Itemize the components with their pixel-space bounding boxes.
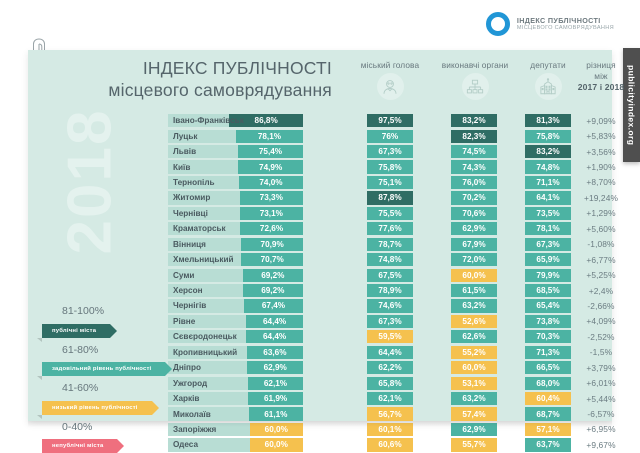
infographic-root: Індекс публічності місцевого самоврядува… xyxy=(0,0,640,453)
legend-item: 61-80%задовільний рівень публічності xyxy=(28,344,188,377)
city-name: Хмельницький xyxy=(173,253,234,266)
difference-value: +6,01% xyxy=(568,378,634,388)
legend-item: 81-100%публічні міста xyxy=(28,305,188,338)
legend-item: 0-40%непублічні міста xyxy=(28,421,188,453)
city-total-cell: 86,8%Івано-Франківськ xyxy=(168,114,303,127)
city-total-bar: 62,1% xyxy=(248,377,303,390)
legend-range: 41-60% xyxy=(28,382,188,394)
city-name: Сєвєродонецьк xyxy=(173,330,237,343)
exec-score: 72,0% xyxy=(451,253,497,266)
city-total-value: 64,4% xyxy=(258,317,291,326)
legend-tag: непублічні міста xyxy=(42,439,117,453)
city-total-value: 73,3% xyxy=(255,193,288,202)
difference-value: +6,77% xyxy=(568,255,634,265)
exec-score: 60,0% xyxy=(451,269,497,282)
city-total-cell: 62,1%Ужгород xyxy=(168,377,303,390)
mayor-score: 62,1% xyxy=(367,392,413,405)
legend-range: 81-100% xyxy=(28,305,188,317)
city-name: Ужгород xyxy=(173,377,207,390)
city-total-cell: 64,4%Сєвєродонецьк xyxy=(168,330,303,343)
exec-score: 53,1% xyxy=(451,377,497,390)
mayor-score: 78,9% xyxy=(367,284,413,297)
exec-score: 70,2% xyxy=(451,191,497,204)
brand-logo-text: Індекс публічності місцевого самоврядува… xyxy=(517,16,614,32)
legend-tag-label: низький рівень публічності xyxy=(52,405,138,411)
deputies-score: 68,7% xyxy=(525,407,571,420)
exec-score: 62,9% xyxy=(451,222,497,235)
deputies-score: 68,5% xyxy=(525,284,571,297)
difference-value: -2,66% xyxy=(568,301,634,311)
difference-value: -2,52% xyxy=(568,332,634,342)
city-name: Харків xyxy=(173,392,199,405)
city-name: Івано-Франківськ xyxy=(173,114,244,127)
city-name: Кропивницький xyxy=(173,346,237,359)
mayor-score: 75,1% xyxy=(367,176,413,189)
difference-value: +1,90% xyxy=(568,162,634,172)
city-total-cell: 74,9%Київ xyxy=(168,160,303,173)
exec-score: 55,7% xyxy=(451,438,497,451)
deputies-score: 63,7% xyxy=(525,438,571,451)
city-total-bar: 61,1% xyxy=(249,407,303,420)
mayor-score: 78,7% xyxy=(367,238,413,251)
city-total-value: 74,0% xyxy=(254,178,287,187)
mayor-score: 60,1% xyxy=(367,423,413,436)
column-header-difference-label-2: між xyxy=(564,71,638,82)
difference-value: +3,79% xyxy=(568,363,634,373)
deputies-score: 67,3% xyxy=(525,238,571,251)
city-total-value: 74,9% xyxy=(254,163,287,172)
city-total-cell: 69,2%Херсон xyxy=(168,284,303,297)
city-total-cell: 78,1%Луцьк xyxy=(168,130,303,143)
city-total-cell: 60,0%Одеса xyxy=(168,438,303,451)
difference-value: +5,60% xyxy=(568,224,634,234)
main-panel: 2018 ІНДЕКС ПУБЛІЧНОСТІ місцевого самовр… xyxy=(28,50,612,421)
brand-line-2: місцевого самоврядування xyxy=(517,25,614,32)
city-total-bar: 69,2% xyxy=(243,269,303,282)
difference-value: +9,09% xyxy=(568,116,634,126)
table-row[interactable]: 74,0%Тернопіль75,1%76,0%71,1%+8,70% xyxy=(28,175,612,190)
exec-score: 76,0% xyxy=(451,176,497,189)
exec-score: 70,6% xyxy=(451,207,497,220)
table-row[interactable]: 75,4%Львів67,3%74,5%83,2%+3,56% xyxy=(28,144,612,159)
difference-value: +6,95% xyxy=(568,424,634,434)
mayor-score: 77,6% xyxy=(367,222,413,235)
city-name: Херсон xyxy=(173,284,203,297)
table-row[interactable]: 74,9%Київ75,8%74,3%74,8%+1,90% xyxy=(28,159,612,174)
mayor-score: 60,6% xyxy=(367,438,413,451)
city-total-cell: 64,4%Рівне xyxy=(168,315,303,328)
city-total-bar: 64,4% xyxy=(246,330,303,343)
city-name: Тернопіль xyxy=(173,176,215,189)
legend-tag-label: публічні міста xyxy=(52,328,96,334)
city-total-cell: 70,7%Хмельницький xyxy=(168,253,303,266)
mayor-score: 74,8% xyxy=(367,253,413,266)
mayor-score: 65,8% xyxy=(367,377,413,390)
mayor-score: 75,8% xyxy=(367,160,413,173)
city-total-bar: 69,2% xyxy=(243,284,303,297)
deputies-score: 70,3% xyxy=(525,330,571,343)
city-name: Вінниця xyxy=(173,238,206,251)
exec-score: 74,3% xyxy=(451,160,497,173)
difference-value: +5,44% xyxy=(568,394,634,404)
city-name: Чернігів xyxy=(173,299,206,312)
legend-tag: публічні міста xyxy=(42,324,110,338)
exec-score: 82,3% xyxy=(451,130,497,143)
city-total-bar: 74,0% xyxy=(239,176,303,189)
table-row[interactable]: 73,1%Чернівці75,5%70,6%73,5%+1,29% xyxy=(28,206,612,221)
page-title-line-2: місцевого самоврядування xyxy=(80,80,332,101)
city-total-bar: 67,4% xyxy=(244,299,303,312)
city-total-value: 72,6% xyxy=(255,224,288,233)
mayor-score: 67,3% xyxy=(367,315,413,328)
difference-value: -1,08% xyxy=(568,239,634,249)
deputies-score: 57,1% xyxy=(525,423,571,436)
city-total-bar: 60,0% xyxy=(250,438,303,451)
city-total-bar: 73,3% xyxy=(240,191,304,204)
legend-item: 41-60%низький рівень публічності xyxy=(28,382,188,415)
deputies-score: 65,4% xyxy=(525,299,571,312)
column-header-difference-label-1: різниця xyxy=(564,60,638,71)
deputies-score: 68,0% xyxy=(525,377,571,390)
city-total-cell: 73,1%Чернівці xyxy=(168,207,303,220)
table-row[interactable]: 70,9%Вінниця78,7%67,9%67,3%-1,08% xyxy=(28,237,612,252)
city-total-cell: 67,4%Чернігів xyxy=(168,299,303,312)
deputies-score: 60,4% xyxy=(525,392,571,405)
mayor-score: 75,5% xyxy=(367,207,413,220)
city-total-bar: 74,9% xyxy=(238,160,303,173)
table-row[interactable]: 69,2%Херсон78,9%61,5%68,5%+2,4% xyxy=(28,283,612,298)
deputies-score: 64,1% xyxy=(525,191,571,204)
city-total-value: 69,2% xyxy=(256,286,289,295)
city-name: Краматорськ xyxy=(173,222,226,235)
mayor-score: 76% xyxy=(367,130,413,143)
city-total-value: 86,8% xyxy=(250,116,283,125)
difference-value: +2,4% xyxy=(568,286,634,296)
city-name: Рівне xyxy=(173,315,195,328)
city-total-cell: 74,0%Тернопіль xyxy=(168,176,303,189)
deputies-score: 81,3% xyxy=(525,114,571,127)
city-total-value: 70,9% xyxy=(256,240,289,249)
deputies-score: 78,1% xyxy=(525,222,571,235)
exec-score: 67,9% xyxy=(451,238,497,251)
exec-score: 61,5% xyxy=(451,284,497,297)
city-total-value: 60,0% xyxy=(260,425,293,434)
city-total-bar: 61,9% xyxy=(248,392,303,405)
city-total-cell: 61,1%Миколаїв xyxy=(168,407,303,420)
deputies-score: 73,8% xyxy=(525,315,571,328)
legend-range: 61-80% xyxy=(28,344,188,356)
city-total-bar: 75,4% xyxy=(238,145,303,158)
deputies-score: 75,8% xyxy=(525,130,571,143)
legend-tag: задовільний рівень публічності xyxy=(42,362,165,376)
difference-value: +3,56% xyxy=(568,147,634,157)
city-total-bar: 72,6% xyxy=(240,222,303,235)
exec-score: 62,9% xyxy=(451,423,497,436)
city-total-value: 60,0% xyxy=(260,440,293,449)
table-row[interactable]: 70,7%Хмельницький74,8%72,0%65,9%+6,77% xyxy=(28,252,612,267)
deputies-score: 83,2% xyxy=(525,145,571,158)
exec-score: 52,6% xyxy=(451,315,497,328)
mayor-score: 59,5% xyxy=(367,330,413,343)
city-total-bar: 73,1% xyxy=(240,207,303,220)
city-name: Суми xyxy=(173,269,194,282)
table-row[interactable]: 86,8%Івано-Франківськ97,5%83,2%81,3%+9,0… xyxy=(28,113,612,128)
difference-value: -6,57% xyxy=(568,409,634,419)
city-total-bar: 60,0% xyxy=(250,423,303,436)
exec-score: 63,2% xyxy=(451,299,497,312)
column-header-difference: різниця між 2017 і 2018 xyxy=(564,60,638,94)
city-total-value: 64,4% xyxy=(258,332,291,341)
person-icon xyxy=(377,73,404,100)
city-name: Київ xyxy=(173,160,190,173)
difference-value: +5,83% xyxy=(568,131,634,141)
city-total-value: 73,1% xyxy=(255,209,288,218)
city-total-value: 62,9% xyxy=(259,363,292,372)
column-header-difference-years: 2017 і 2018 xyxy=(564,82,638,94)
page-title-line-1: ІНДЕКС ПУБЛІЧНОСТІ xyxy=(80,58,332,79)
mayor-score: 56,7% xyxy=(367,407,413,420)
city-total-value: 63,6% xyxy=(258,348,291,357)
legend: 81-100%публічні міста61-80%задовільний р… xyxy=(28,305,188,453)
city-total-cell: 61,9%Харків xyxy=(168,392,303,405)
deputies-score: 71,1% xyxy=(525,176,571,189)
difference-value: +19,24% xyxy=(568,193,634,203)
difference-value: +8,70% xyxy=(568,177,634,187)
city-total-bar: 64,4% xyxy=(246,315,303,328)
difference-value: +1,29% xyxy=(568,208,634,218)
city-total-value: 67,4% xyxy=(257,301,290,310)
city-total-bar: 63,6% xyxy=(247,346,303,359)
difference-value: +9,67% xyxy=(568,440,634,450)
brand-logo: Індекс публічності місцевого самоврядува… xyxy=(486,12,614,36)
brand-line-1: Індекс публічності xyxy=(517,16,614,25)
city-total-cell: 70,9%Вінниця xyxy=(168,238,303,251)
org-chart-icon xyxy=(462,73,489,100)
city-total-value: 69,2% xyxy=(256,271,289,280)
deputies-score: 79,9% xyxy=(525,269,571,282)
city-total-bar: 78,1% xyxy=(236,130,303,143)
city-total-value: 75,4% xyxy=(254,147,287,156)
legend-tag-label: задовільний рівень публічності xyxy=(52,366,151,372)
city-name: Львів xyxy=(173,145,196,158)
mayor-score: 67,5% xyxy=(367,269,413,282)
mayor-score: 67,3% xyxy=(367,145,413,158)
exec-score: 74,5% xyxy=(451,145,497,158)
city-total-bar: 62,9% xyxy=(247,361,303,374)
table-row[interactable]: 73,3%Житомир87,8%70,2%64,1%+19,24% xyxy=(28,190,612,205)
city-total-cell: 62,9%Дніпро xyxy=(168,361,303,374)
mayor-score: 87,8% xyxy=(367,191,413,204)
city-total-value: 61,9% xyxy=(259,394,292,403)
city-total-cell: 73,3%Житомир xyxy=(168,191,303,204)
legend-tag-label: непублічні міста xyxy=(52,443,103,449)
city-name: Миколаїв xyxy=(173,407,211,420)
exec-score: 62,6% xyxy=(451,330,497,343)
difference-value: -1,5% xyxy=(568,347,634,357)
exec-score: 57,4% xyxy=(451,407,497,420)
exec-score: 55,2% xyxy=(451,346,497,359)
city-total-cell: 69,2%Суми xyxy=(168,269,303,282)
table-row[interactable]: 78,1%Луцьк76%82,3%75,8%+5,83% xyxy=(28,128,612,143)
deputies-score: 73,5% xyxy=(525,207,571,220)
exec-score: 83,2% xyxy=(451,114,497,127)
ring-logo-icon xyxy=(486,12,510,36)
deputies-score: 65,9% xyxy=(525,253,571,266)
city-total-value: 61,1% xyxy=(259,410,292,419)
city-name: Одеса xyxy=(173,438,198,451)
city-total-value: 62,1% xyxy=(259,379,292,388)
mayor-score: 97,5% xyxy=(367,114,413,127)
deputies-score: 74,8% xyxy=(525,160,571,173)
exec-score: 60,0% xyxy=(451,361,497,374)
city-name: Луцьк xyxy=(173,130,197,143)
city-total-bar: 70,9% xyxy=(241,238,303,251)
city-name: Чернівці xyxy=(173,207,208,220)
mayor-score: 74,6% xyxy=(367,299,413,312)
table-row[interactable]: 69,2%Суми67,5%60,0%79,9%+5,25% xyxy=(28,267,612,282)
table-row[interactable]: 72,6%Краматорськ77,6%62,9%78,1%+5,60% xyxy=(28,221,612,236)
city-total-value: 78,1% xyxy=(253,132,286,141)
mayor-score: 64,4% xyxy=(367,346,413,359)
difference-value: +5,25% xyxy=(568,270,634,280)
city-total-cell: 60,0%Запоріжжя xyxy=(168,423,303,436)
government-building-icon xyxy=(535,73,562,100)
difference-value: +4,09% xyxy=(568,316,634,326)
deputies-score: 66,5% xyxy=(525,361,571,374)
city-total-cell: 75,4%Львів xyxy=(168,145,303,158)
exec-score: 63,2% xyxy=(451,392,497,405)
city-total-value: 70,7% xyxy=(256,255,289,264)
legend-tag: низький рівень публічності xyxy=(42,401,152,415)
city-name: Дніпро xyxy=(173,361,201,374)
city-total-cell: 63,6%Кропивницький xyxy=(168,346,303,359)
legend-range: 0-40% xyxy=(28,421,188,433)
city-name: Житомир xyxy=(173,191,210,204)
page-title: ІНДЕКС ПУБЛІЧНОСТІ місцевого самоврядува… xyxy=(80,58,332,101)
city-total-bar: 70,7% xyxy=(241,253,303,266)
mayor-score: 62,2% xyxy=(367,361,413,374)
city-name: Запоріжжя xyxy=(173,423,216,436)
deputies-score: 71,3% xyxy=(525,346,571,359)
city-total-cell: 72,6%Краматорськ xyxy=(168,222,303,235)
